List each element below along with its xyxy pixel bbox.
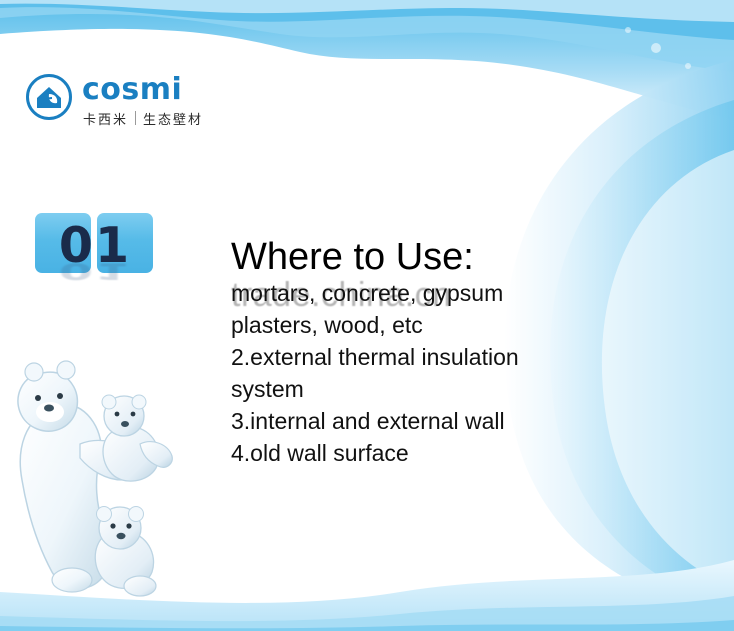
logo-subtitle-cn2: 生态壁材 [143,109,203,128]
page-title: Where to Use: [231,236,474,279]
body-line: 4.old wall surface [231,437,701,469]
logo-subtitle-divider [135,111,136,125]
badge-number-reflection: 01 [35,266,155,275]
body-line: plasters, wood, etc [231,309,701,341]
body-line: mortars, concrete, gypsum [231,277,701,309]
logo-wordmark: cosmi [82,72,182,107]
polar-bear-family-illustration [8,340,213,605]
body-line: 2.external thermal insulation [231,341,701,373]
logo-subtitle-cn: 卡西米 [83,109,128,128]
body-text: mortars, concrete, gypsum plasters, wood… [231,277,701,469]
body-line: system [231,373,701,405]
logo-subtitle: 卡西米 生态壁材 [83,108,203,128]
slide: cosmi 卡西米 生态壁材 01 01 Where to Use: trade… [0,0,734,631]
house-leaf-icon [26,74,72,120]
body-line: 3.internal and external wall [231,405,701,437]
section-number-badge: 01 01 [35,213,155,285]
brand-logo: cosmi 卡西米 生态壁材 [26,72,216,134]
